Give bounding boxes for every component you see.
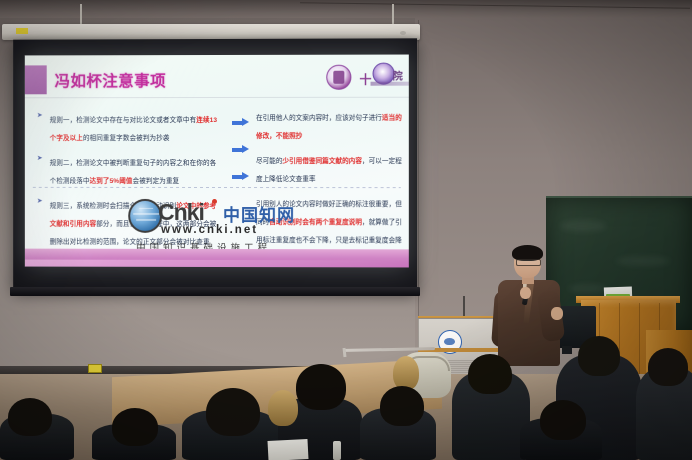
cnki-url: www.cnki.net: [161, 224, 258, 236]
glasses-icon: [516, 259, 541, 266]
audience-head: [578, 336, 620, 376]
housing-label: [16, 28, 28, 34]
screen-bottom-bar: [10, 287, 420, 296]
audience-head: [8, 398, 52, 436]
presenter: [494, 247, 568, 367]
bullet-marker-icon: ➤: [37, 154, 43, 162]
presentation-slide: 冯如杯注意事项 十 院 ➤ 规则一，检测论文中存在与对比论文或者文章中有连续13…: [25, 55, 409, 268]
audience-head: [540, 400, 586, 440]
water-bottle: [333, 441, 341, 460]
arrow-right-icon-1: [232, 118, 250, 127]
cnki-globe-icon: [128, 199, 162, 233]
audience-hair-blonde: [393, 356, 419, 390]
bullet-marker-icon: ➤: [37, 111, 43, 119]
rule-2-text: 规则二，检测论文中被判断重复句子的内容之和在你的各个检测段落中达到了5%阈值会被…: [50, 160, 217, 185]
slide-footer-highlight: [25, 260, 409, 268]
wall-seam: [418, 20, 419, 350]
housing-knob: [400, 31, 406, 35]
cnki-wordmark: Cnki: [158, 199, 204, 226]
title-accent-tab: [25, 65, 47, 94]
slide-title: 冯如杯注意事项: [55, 69, 166, 91]
title-divider: [25, 97, 409, 99]
advice-1-text: 在引用他人的文案内容时，应该对句子进行适当的修改，不能照抄: [256, 115, 402, 140]
screen-hanger: [392, 4, 394, 26]
lecture-hall-photo: 冯如杯注意事项 十 院 ➤ 规则一，检测论文中存在与对比论文或者文章中有连续13…: [0, 0, 692, 460]
paper-sheet: [268, 439, 309, 460]
logo-word: 院: [393, 68, 403, 83]
audience-hair-blonde: [268, 390, 298, 426]
audience-head: [468, 354, 512, 394]
university-logo-icon: [326, 65, 351, 90]
bullet-rule-2: ➤ 规则二，检测论文中被判断重复句子的内容之和在你的各个检测段落中达到了5%阈值…: [35, 152, 222, 188]
yellow-wall-label: [88, 364, 102, 373]
audience-head: [296, 364, 346, 410]
audience-head: [112, 408, 158, 446]
advice-2-text: 尽可能的少引用借鉴同篇文献的内容，可以一定程度上降低论文查重率: [256, 158, 402, 183]
cnki-dot-icon: [212, 199, 217, 204]
arrow-right-icon-2: [232, 145, 250, 154]
rule-1-text: 规则一，检测论文中存在与对比论文或者文章中有连续13个字及以上的相同重复字数会被…: [50, 117, 218, 142]
cnki-logo: Cnki 中国知网 www.cnki.net 中国知识基础设施工程: [128, 197, 328, 245]
audience-head: [648, 348, 688, 386]
bullet-marker-icon: ➤: [37, 197, 43, 205]
arrow-right-icon-3: [232, 172, 250, 181]
audience-head: [206, 388, 260, 436]
logo-subtext: [371, 82, 409, 86]
bullet-rule-1: ➤ 规则一，检测论文中存在与对比论文或者文章中有连续13个字及以上的相同重复字数…: [35, 109, 222, 145]
advice-2: 尽可能的少引用借鉴同篇文献的内容，可以一定程度上降低论文查重率: [256, 150, 405, 186]
audience-head: [380, 386, 424, 426]
advice-1: 在引用他人的文案内容时，应该对句子进行适当的修改，不能照抄: [256, 107, 405, 143]
cnki-chinese-name: 中国知网: [223, 201, 295, 226]
screen-hanger: [80, 4, 82, 26]
